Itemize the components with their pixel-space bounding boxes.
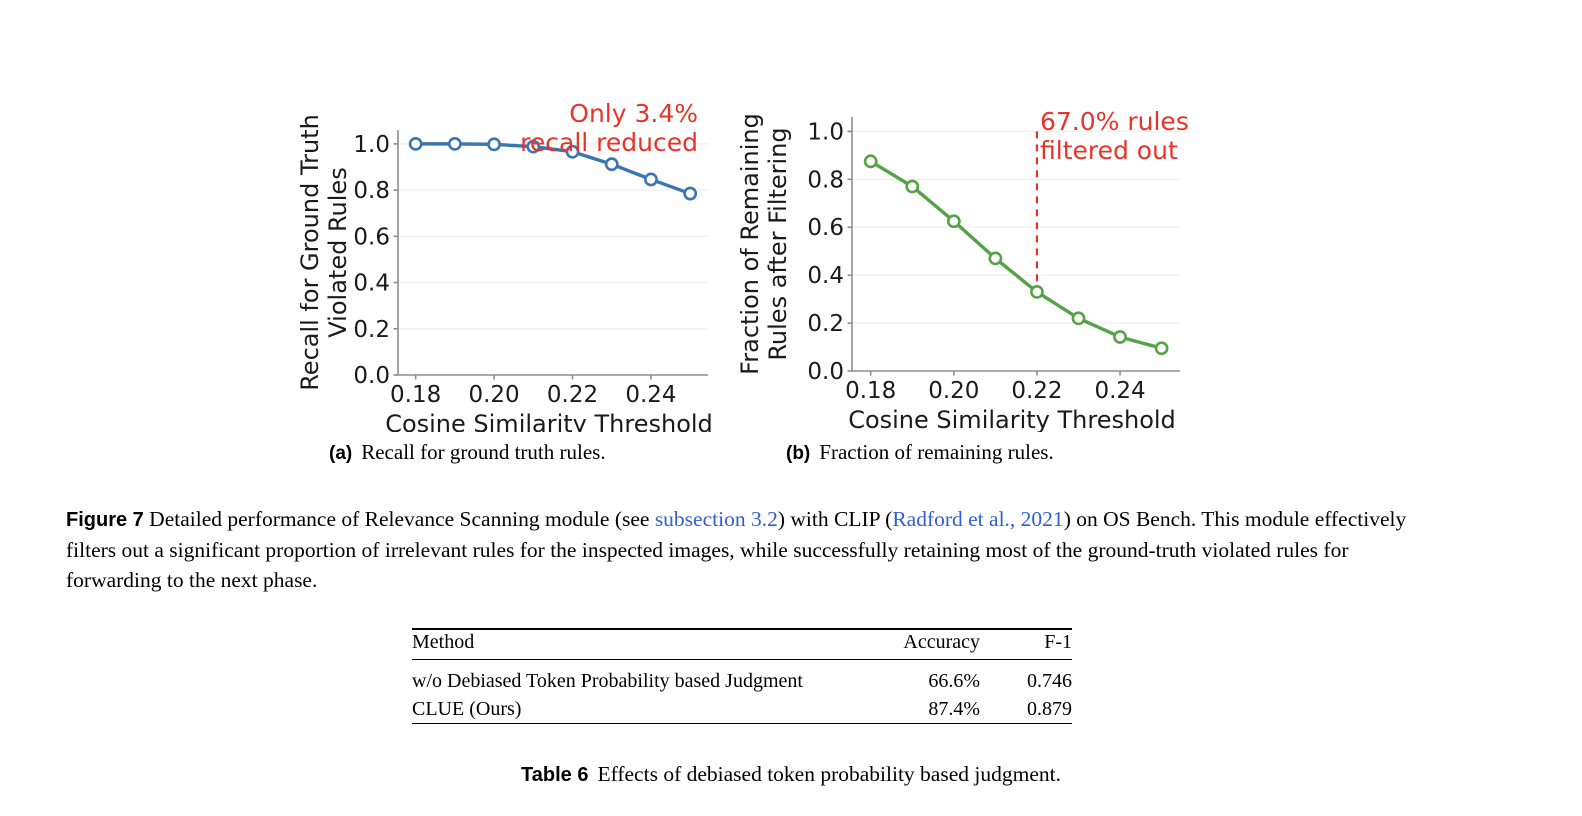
y-axis-title-line-1: Fraction of Remaining: [740, 113, 764, 375]
y-tick-label: 0.6: [807, 215, 844, 241]
table-caption-label: Table 6: [521, 764, 588, 786]
results-table: Method Accuracy F-1 w/o Debiased Token P…: [412, 628, 1072, 731]
table-6: Method Accuracy F-1 w/o Debiased Token P…: [412, 628, 1072, 731]
column-header-accuracy: Accuracy: [870, 629, 994, 660]
annotation-line-2: recall reduced: [520, 128, 698, 157]
data-point-marker: [865, 156, 876, 167]
y-axis-title-line-2: Violated Rules: [324, 167, 352, 337]
x-tick-label: 0.20: [928, 378, 979, 404]
x-tick-label: 0.24: [625, 382, 676, 408]
data-point-marker: [606, 159, 617, 170]
subcaption-a-label: (a): [329, 443, 352, 464]
subcaption-b: (b)Fraction of remaining rules.: [786, 440, 1054, 465]
subcaption-a-text: Recall for ground truth rules.: [361, 440, 605, 464]
table-row: w/o Debiased Token Probability based Jud…: [412, 667, 1072, 695]
grid-lines: [398, 144, 708, 329]
annotation-line-2: filtered out: [1040, 136, 1178, 165]
caption-text: Detailed performance of Relevance Scanni…: [144, 507, 655, 531]
column-header-f1: F-1: [994, 629, 1072, 660]
series-markers: [865, 156, 1167, 354]
data-point-marker: [410, 138, 421, 149]
y-tick-label: 0.2: [807, 311, 844, 337]
data-point-marker: [645, 174, 656, 185]
y-tick-label: 0.6: [353, 224, 390, 250]
caption-text: ) with CLIP (: [778, 507, 892, 531]
y-tick-label: 0.4: [807, 263, 844, 289]
y-tick-label: 0.2: [353, 317, 390, 343]
y-axis-title-line-1: Recall for Ground Truth: [300, 114, 324, 391]
data-point-marker: [990, 253, 1001, 264]
x-tick-label: 0.24: [1094, 378, 1145, 404]
caption-xref-link[interactable]: Radford et al., 2021: [892, 507, 1063, 531]
y-tick-label: 0.0: [807, 359, 844, 385]
table-body: w/o Debiased Token Probability based Jud…: [412, 660, 1072, 732]
table-midrule: [412, 660, 1072, 668]
y-axis-ticks: 0.00.20.40.60.81.0: [807, 119, 852, 385]
figure-caption: Figure 7 Detailed performance of Relevan…: [66, 504, 1426, 595]
figure-caption-body: Detailed performance of Relevance Scanni…: [66, 507, 1406, 592]
data-point-marker: [907, 181, 918, 192]
figure-caption-label: Figure 7: [66, 509, 144, 531]
table-caption-text: Effects of debiased token probability ba…: [597, 762, 1061, 786]
x-axis-title: Cosine Similarity Threshold: [848, 406, 1176, 432]
caption-xref-link[interactable]: subsection 3.2: [655, 507, 778, 531]
data-point-marker: [488, 139, 499, 150]
data-point-marker: [685, 188, 696, 199]
x-axis-ticks: 0.180.200.220.24: [390, 375, 677, 408]
y-tick-label: 0.8: [353, 178, 390, 204]
x-axis-ticks: 0.180.200.220.24: [845, 371, 1146, 404]
y-tick-label: 1.0: [353, 132, 390, 158]
cell-method: CLUE (Ours): [412, 695, 870, 724]
table-bottomrule: [412, 724, 1072, 732]
x-tick-label: 0.22: [547, 382, 598, 408]
y-tick-label: 1.0: [807, 119, 844, 145]
subcaption-b-label: (b): [786, 443, 810, 464]
y-tick-label: 0.0: [353, 363, 390, 389]
x-tick-label: 0.18: [390, 382, 441, 408]
annotation-line-1: Only 3.4%: [569, 99, 698, 128]
fraction-chart-svg: 0.00.20.40.60.81.00.180.200.220.24Cosine…: [740, 92, 1200, 432]
x-tick-label: 0.20: [468, 382, 519, 408]
subfigure-a-recall-chart: 0.00.20.40.60.81.00.180.200.220.24Cosine…: [300, 92, 740, 432]
x-tick-label: 0.18: [845, 378, 896, 404]
recall-chart-svg: 0.00.20.40.60.81.00.180.200.220.24Cosine…: [300, 92, 740, 432]
y-tick-label: 0.8: [807, 167, 844, 193]
table-header-row: Method Accuracy F-1: [412, 629, 1072, 660]
subcaption-b-text: Fraction of remaining rules.: [819, 440, 1053, 464]
data-point-marker: [1156, 343, 1167, 354]
cell-f1: 0.879: [994, 695, 1072, 724]
y-axis-ticks: 0.00.20.40.60.81.0: [353, 132, 398, 389]
cell-f1: 0.746: [994, 667, 1072, 695]
x-tick-label: 0.22: [1011, 378, 1062, 404]
data-point-marker: [1031, 286, 1042, 297]
cell-method: w/o Debiased Token Probability based Jud…: [412, 667, 870, 695]
data-point-marker: [948, 216, 959, 227]
column-header-method: Method: [412, 629, 870, 660]
figure-7: 0.00.20.40.60.81.00.180.200.220.24Cosine…: [0, 0, 1582, 490]
table-caption: Table 6Effects of debiased token probabi…: [0, 762, 1582, 787]
x-axis-title: Cosine Similarity Threshold: [385, 410, 713, 432]
subcaption-a: (a)Recall for ground truth rules.: [329, 440, 606, 465]
cell-accuracy: 87.4%: [870, 695, 994, 724]
y-tick-label: 0.4: [353, 271, 390, 297]
annotation-line-1: 67.0% rules: [1040, 107, 1189, 136]
subfigure-b-fraction-chart: 0.00.20.40.60.81.00.180.200.220.24Cosine…: [740, 92, 1200, 432]
data-point-marker: [1114, 331, 1125, 342]
table-row: CLUE (Ours) 87.4% 0.879: [412, 695, 1072, 724]
table-head: Method Accuracy F-1: [412, 629, 1072, 660]
cell-accuracy: 66.6%: [870, 667, 994, 695]
data-point-marker: [1073, 313, 1084, 324]
data-point-marker: [449, 138, 460, 149]
y-axis-title-line-2: Rules after Filtering: [764, 127, 792, 360]
